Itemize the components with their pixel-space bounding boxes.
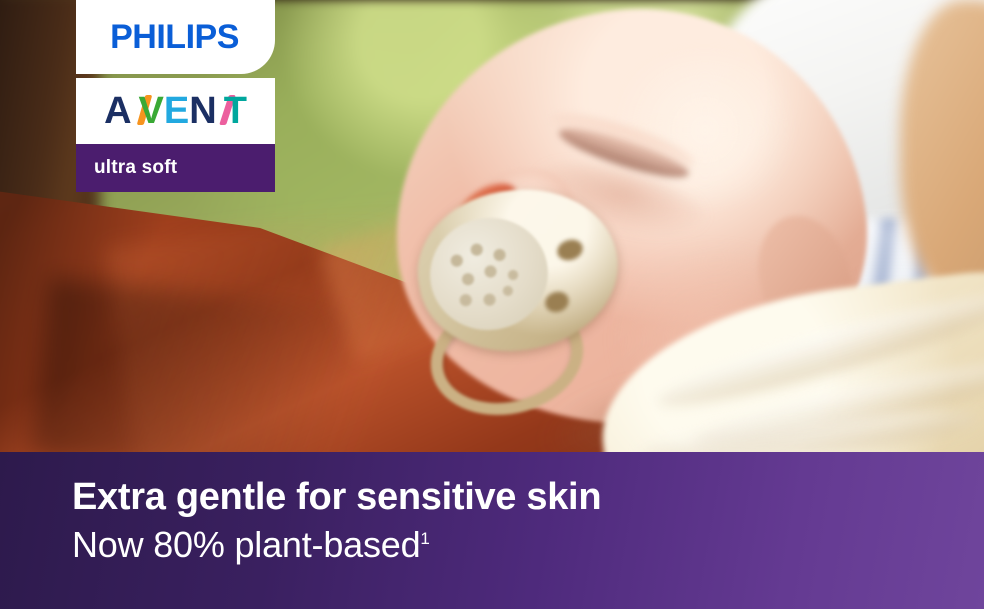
subheadline-text: Now 80% plant-based xyxy=(72,524,420,565)
avent-letter-t: T xyxy=(224,92,247,130)
avent-wordmark: AVENT xyxy=(104,92,247,130)
avent-letter-n: N xyxy=(189,92,216,130)
advertisement-banner: PHILIPS AVENT ultra soft Extra gentle fo… xyxy=(0,0,984,609)
avent-letter-a: A xyxy=(104,92,131,130)
philips-avent-logo[interactable]: PHILIPS AVENT ultra soft xyxy=(76,0,275,192)
headline: Extra gentle for sensitive skin xyxy=(72,476,601,519)
subheadline: Now 80% plant-based1 xyxy=(72,524,430,566)
avent-letter-e: E xyxy=(164,92,189,130)
philips-wordmark: PHILIPS xyxy=(110,20,239,54)
avent-panel[interactable]: AVENT xyxy=(76,78,275,144)
philips-shield[interactable]: PHILIPS xyxy=(76,0,275,74)
avent-letter-v: V xyxy=(139,92,164,130)
sub-brand-label: ultra soft xyxy=(94,157,177,179)
message-band: Extra gentle for sensitive skin Now 80% … xyxy=(0,452,984,609)
sub-brand-badge: ultra soft xyxy=(76,144,275,192)
footnote-marker: 1 xyxy=(420,529,429,548)
